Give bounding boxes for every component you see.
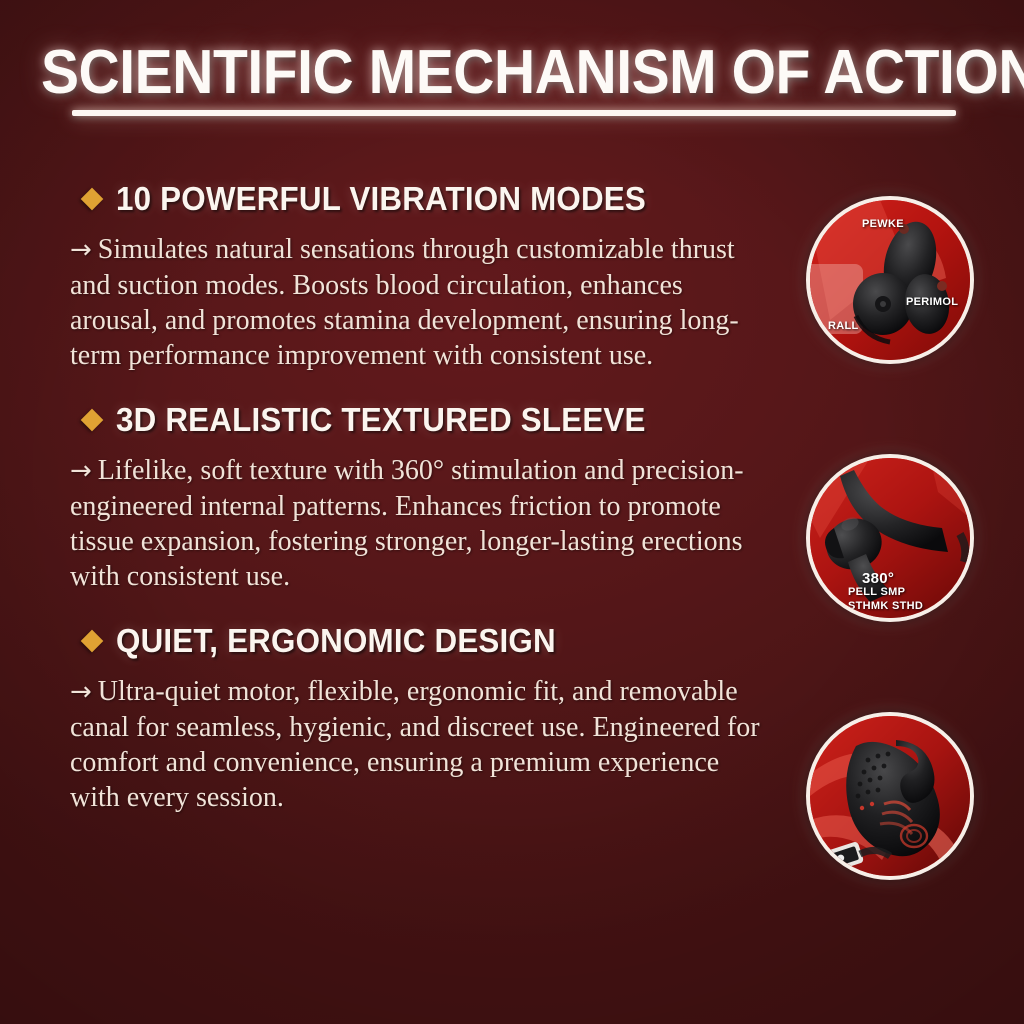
product-illustration-3 xyxy=(810,716,970,876)
section-heading-row: QUIET, ERGONOMIC DESIGN xyxy=(0,618,1024,664)
arrow-icon: → xyxy=(70,456,98,486)
section-heading-row: 3D REALISTIC TEXTURED SLEEVE xyxy=(0,397,1024,443)
section-body-text: Lifelike, soft texture with 360° stimula… xyxy=(70,455,744,592)
product-illustration-2 xyxy=(810,458,970,618)
section-heading: 3D REALISTIC TEXTURED SLEEVE xyxy=(116,402,646,438)
section-body-text: Simulates natural sensations through cus… xyxy=(70,234,739,371)
diamond-bullet-icon xyxy=(81,188,104,211)
product-photo-vibration-modes: PEWKE RALL PERIMOL xyxy=(806,196,974,364)
diamond-bullet-icon xyxy=(81,630,104,653)
product-photo-ergonomic-design xyxy=(806,712,974,880)
poster-title-block: SCIENTIFIC MECHANISM OF ACTION xyxy=(0,40,1024,106)
page-title: SCIENTIFIC MECHANISM OF ACTION xyxy=(41,40,983,106)
infographic-poster: SCIENTIFIC MECHANISM OF ACTION 10 POWERF… xyxy=(0,0,1024,1024)
section-heading: QUIET, ERGONOMIC DESIGN xyxy=(116,623,556,659)
product-photo-textured-sleeve: 380° PELL SMP STHMK STHD xyxy=(806,454,974,622)
section-heading: 10 POWERFUL VIBRATION MODES xyxy=(116,181,646,217)
arrow-icon: → xyxy=(70,677,98,707)
title-underline-rule xyxy=(72,110,956,116)
product-illustration-1 xyxy=(810,200,970,360)
arrow-icon: → xyxy=(70,235,98,265)
section-body-text: Ultra-quiet motor, flexible, ergonomic f… xyxy=(70,676,760,813)
diamond-bullet-icon xyxy=(81,409,104,432)
